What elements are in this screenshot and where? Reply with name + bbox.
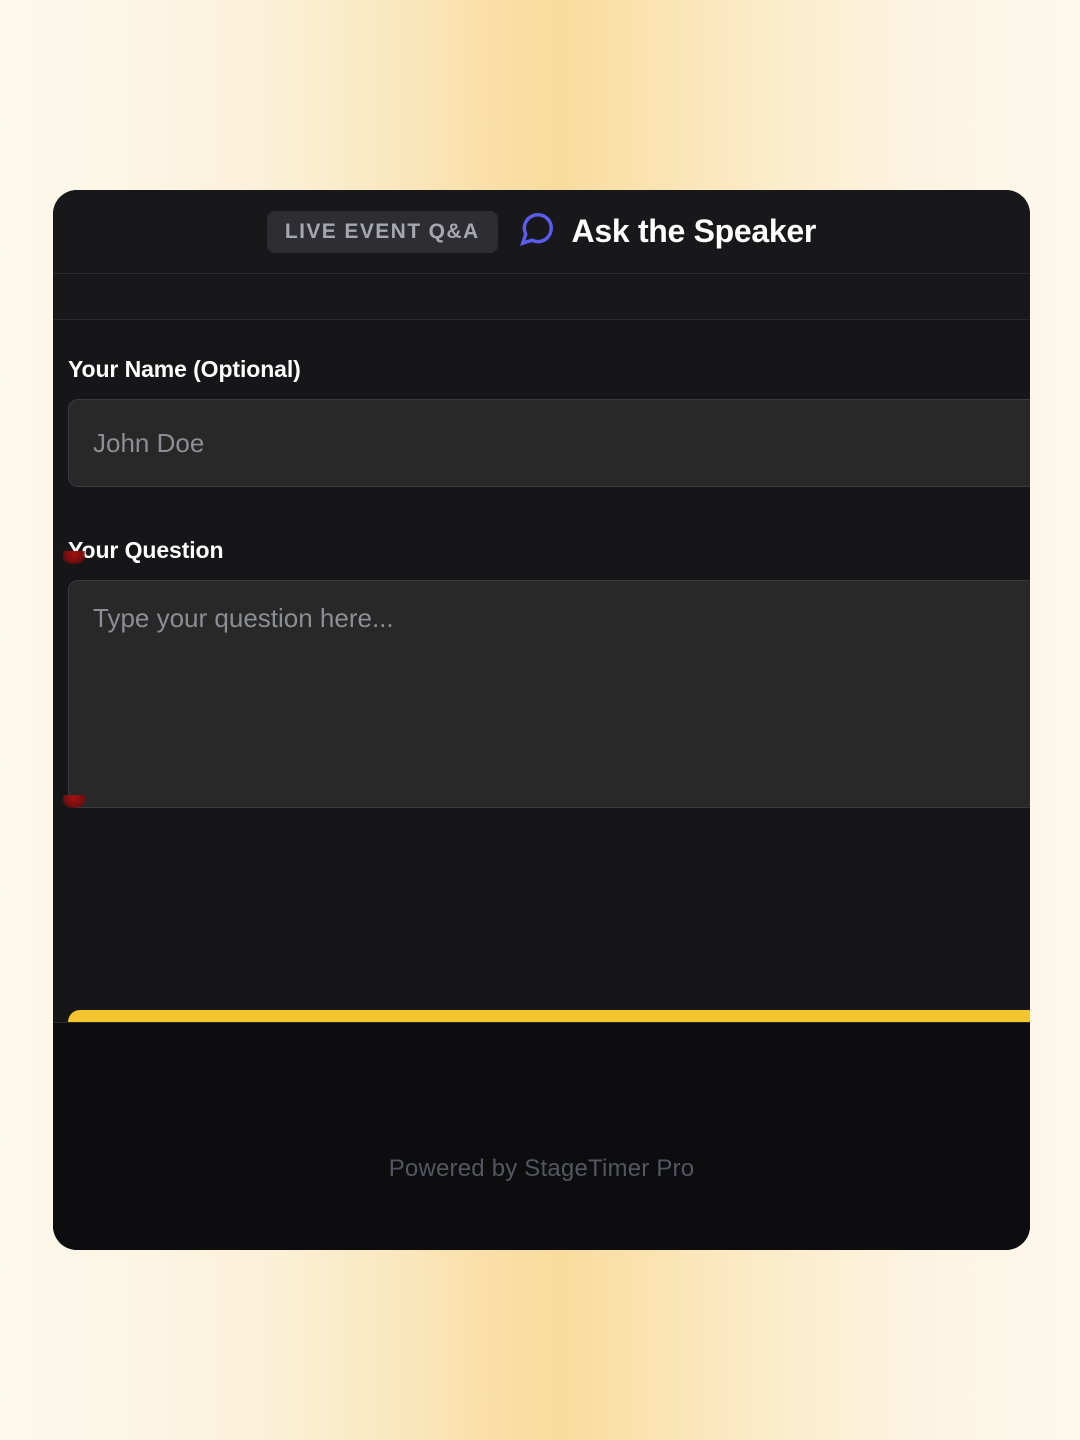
header-title-group: Ask the Speaker [518, 210, 817, 253]
powered-by-text: Powered by StageTimer Pro [389, 1155, 695, 1183]
question-field-label: Your Question [53, 537, 1030, 564]
card-footer: Powered by StageTimer Pro [53, 1022, 1030, 1250]
speech-bubble-icon [518, 210, 556, 253]
name-field-label: Your Name (Optional) [53, 356, 1030, 383]
question-textarea[interactable] [68, 580, 1030, 808]
live-event-badge: LIVE EVENT Q&A [267, 211, 498, 253]
name-input[interactable] [68, 399, 1030, 487]
page-title: Ask the Speaker [572, 213, 817, 250]
ask-the-speaker-card: LIVE EVENT Q&A Ask the Speaker Your Name… [53, 190, 1030, 1250]
required-marker-bottom-icon [63, 795, 85, 808]
required-marker-top-icon [63, 551, 85, 564]
card-header: LIVE EVENT Q&A Ask the Speaker [53, 190, 1030, 274]
field-spacer [53, 487, 1030, 537]
question-form: Your Name (Optional) Your Question Send … [53, 320, 1030, 1022]
question-field-group: Your Question [53, 537, 1030, 808]
header-sub-band [53, 274, 1030, 320]
